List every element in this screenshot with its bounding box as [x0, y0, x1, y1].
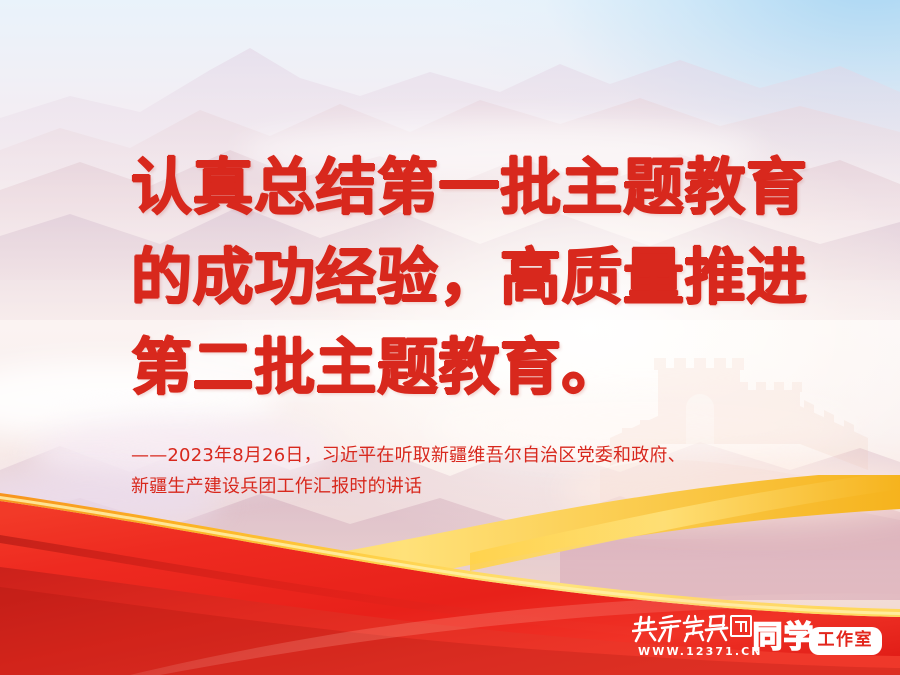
poster-canvas: 认真总结第一批主题教育 的成功经验，高质量推进 第二批主题教育。 ——2023年… [0, 0, 900, 675]
gongchandangyuan-brush-calligraphy-icon [632, 614, 730, 644]
studio-name-text: 同学 [753, 621, 815, 655]
wang-character-box-icon [730, 615, 752, 637]
logo-tongxue-studio[interactable]: 同学 工作室 [753, 618, 883, 658]
headline-line-2: 的成功经验，高质量推进 [131, 233, 821, 323]
logo-12371-site[interactable]: WWW.12371.CN [632, 614, 739, 662]
attribution-line-2: 新疆生产建设兵团工作汇报时的讲话 [131, 471, 831, 502]
logo-group: WWW.12371.CN 同学 工作室 [632, 612, 882, 664]
studio-pill-label: 工作室 [809, 627, 883, 655]
headline-block: 认真总结第一批主题教育 的成功经验，高质量推进 第二批主题教育。 [131, 143, 821, 413]
headline-line-3: 第二批主题教育。 [131, 323, 821, 413]
headline-line-1: 认真总结第一批主题教育 [131, 143, 821, 233]
attribution-line-1: ——2023年8月26日，习近平在听取新疆维吾尔自治区党委和政府、 [131, 440, 831, 471]
logo-site-url: WWW.12371.CN [638, 645, 763, 658]
attribution-block: ——2023年8月26日，习近平在听取新疆维吾尔自治区党委和政府、 新疆生产建设… [131, 440, 831, 502]
